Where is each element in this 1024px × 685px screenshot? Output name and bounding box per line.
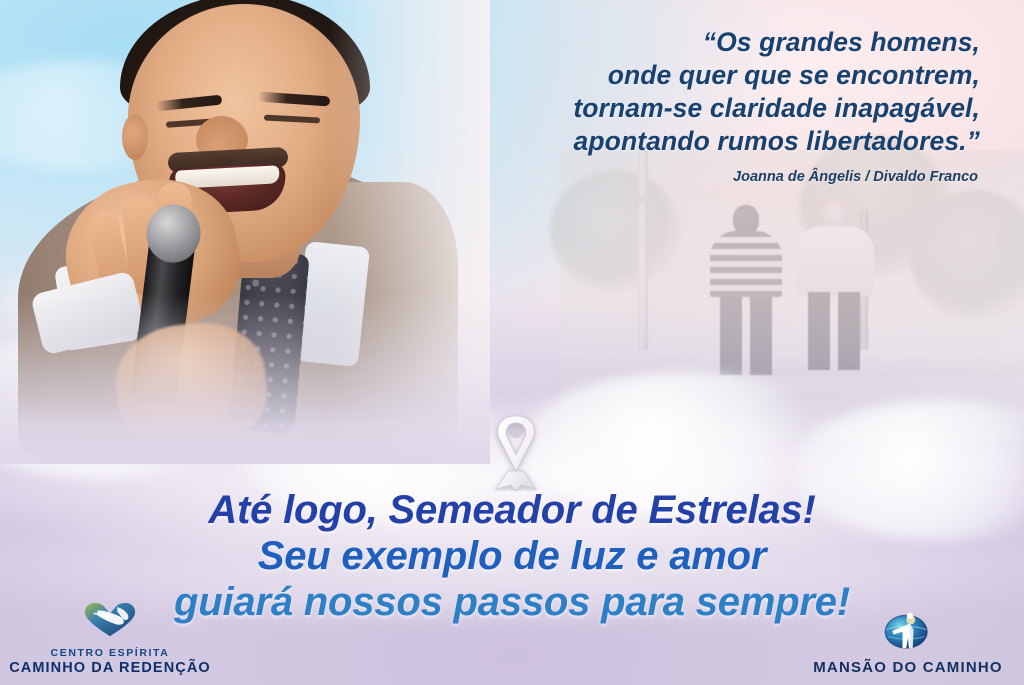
headline-line-1: Até logo, Semeador de Estrelas! <box>0 487 1024 533</box>
quote-text: “Os grandes homens, onde quer que se enc… <box>420 26 980 158</box>
bg-ground <box>560 376 1024 440</box>
bg-figure-legs <box>720 297 772 375</box>
globe-figure-flame-icon <box>798 608 1018 655</box>
bg-figure-white-shirt <box>796 200 874 380</box>
logo-mansao-do-caminho: MANSÃO DO CAMINHO <box>798 608 1018 677</box>
logo-left-line-1: CENTRO ESPÍRITA <box>6 647 214 660</box>
quote-line-4: apontando rumos libertadores.” <box>420 125 980 158</box>
bg-tree-right <box>910 190 1024 320</box>
bg-figure-striped-shirt <box>710 205 782 380</box>
quote-attribution: Joanna de Ângelis / Divaldo Franco <box>418 169 978 185</box>
portrait-photo <box>0 0 470 434</box>
white-mourning-ribbon-icon <box>478 409 554 491</box>
bg-lamp-collar <box>632 196 654 203</box>
bg-figure-torso <box>710 231 782 301</box>
ear <box>122 114 148 160</box>
quote-line-3: tornam-se claridade inapagável, <box>420 92 980 125</box>
quote-line-1: “Os grandes homens, <box>420 26 980 59</box>
bg-wall <box>560 350 1024 376</box>
memorial-poster: “Os grandes homens, onde quer que se enc… <box>0 0 1024 685</box>
logo-centro-espirita: CENTRO ESPÍRITA CAMINHO DA REDENÇÃO <box>6 598 214 677</box>
headline-line-2: Seu exemplo de luz e amor <box>0 533 1024 579</box>
bg-figure2-legs <box>808 292 860 370</box>
bg-figure2-torso <box>796 226 874 296</box>
bg-tree-left <box>550 170 680 290</box>
logo-right-line-1: MANSÃO DO CAMINHO <box>798 659 1018 677</box>
heart-hands-icon <box>6 598 214 643</box>
portrait-fade-bottom <box>0 294 490 464</box>
logo-left-line-2: CAMINHO DA REDENÇÃO <box>6 660 214 677</box>
quote-line-2: onde quer que se encontrem, <box>420 59 980 92</box>
background-photo-two-people-walking <box>560 150 1024 440</box>
